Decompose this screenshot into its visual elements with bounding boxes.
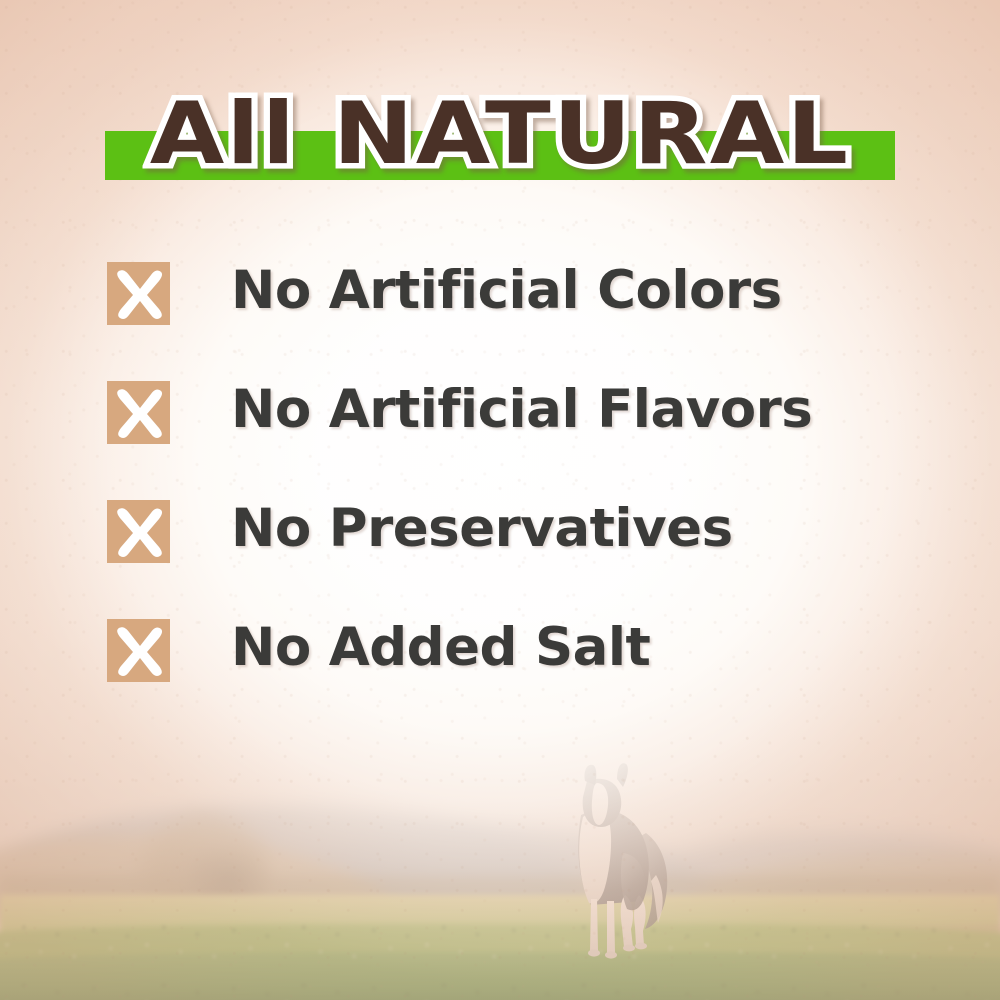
x-mark-icon — [107, 619, 170, 682]
list-item: No Preservatives — [0, 490, 1000, 609]
list-item-label: No Artificial Colors — [231, 252, 782, 330]
headline-block: All NATURAL — [0, 78, 1000, 196]
poster-content: All NATURAL No Artificial Colors No Arti… — [0, 0, 1000, 1000]
list-item: No Artificial Colors — [0, 252, 1000, 371]
list-item-label: No Added Salt — [231, 609, 650, 687]
x-mark-icon — [107, 500, 170, 563]
list-item: No Added Salt — [0, 609, 1000, 728]
list-item: No Artificial Flavors — [0, 371, 1000, 490]
x-mark-icon — [107, 262, 170, 325]
all-natural-poster: All NATURAL No Artificial Colors No Arti… — [0, 0, 1000, 1000]
x-mark-icon — [107, 381, 170, 444]
list-item-label: No Artificial Flavors — [231, 371, 812, 449]
list-item-label: No Preservatives — [231, 490, 733, 568]
claims-list: No Artificial Colors No Artificial Flavo… — [0, 252, 1000, 728]
page-title: All NATURAL — [0, 78, 1000, 190]
